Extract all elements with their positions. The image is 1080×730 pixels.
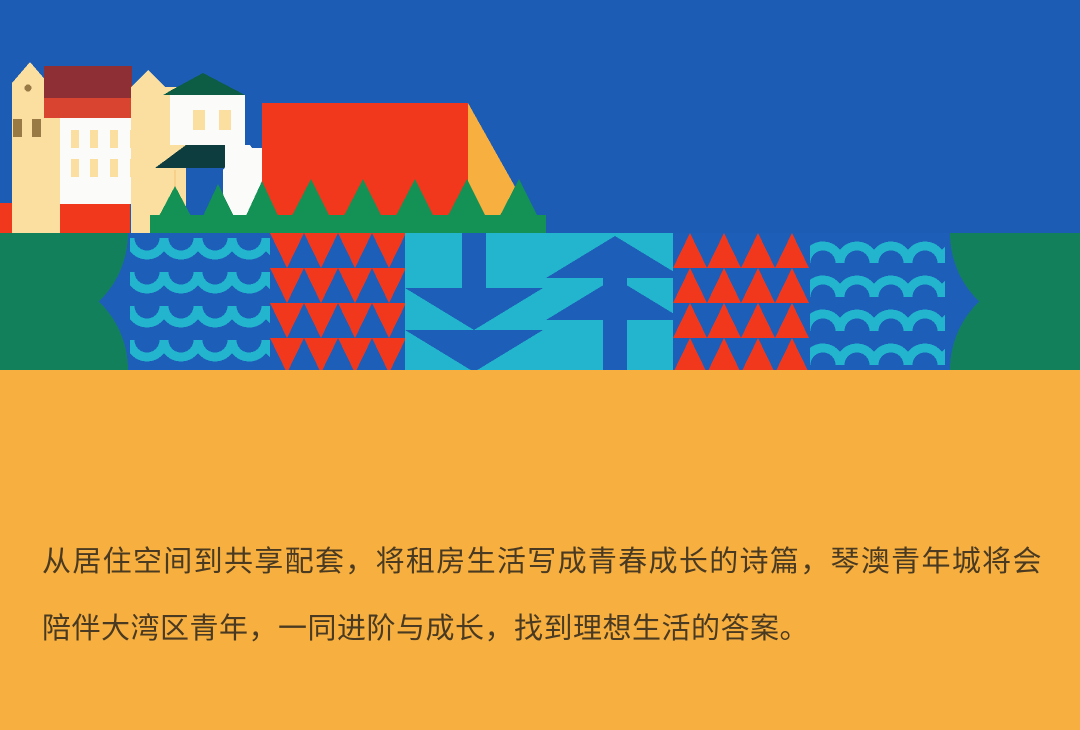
poster-page: 从居住空间到共享配套，将租房生活写成青春成长的诗篇，琴澳青年城将会陪伴大湾区青年…	[0, 0, 1080, 730]
apartment-window	[110, 159, 118, 177]
caption-paragraph: 从居住空间到共享配套，将租房生活写成青春成长的诗篇，琴澳青年城将会陪伴大湾区青年…	[42, 529, 1042, 663]
apartment-window	[71, 159, 79, 177]
illustration-banner	[0, 0, 1080, 370]
small-house-window	[219, 110, 231, 130]
apartment-window	[90, 130, 98, 148]
caption-block: 从居住空间到共享配套，将租房生活写成青春成长的诗篇，琴澳青年城将会陪伴大湾区青年…	[0, 370, 1080, 730]
apartment-window	[71, 130, 79, 148]
pine-base-fill	[150, 215, 546, 233]
arrow-panel-teal	[405, 233, 684, 370]
apartment-window	[110, 130, 118, 148]
tall-house-window-b	[32, 119, 41, 137]
tall-house-dot	[25, 85, 32, 92]
apartment-window	[90, 159, 98, 177]
small-house-white-body	[170, 95, 245, 145]
small-house-window	[193, 110, 205, 130]
tall-house-window-a	[13, 119, 22, 137]
dark-red-roof-block	[44, 66, 132, 98]
red-roof-band	[44, 98, 132, 118]
